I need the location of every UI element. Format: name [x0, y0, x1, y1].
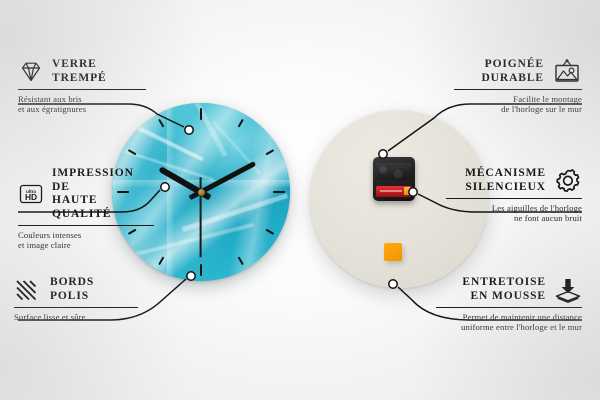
- feature-title: POIGNÉE DURABLE: [481, 58, 544, 85]
- hour-marker: [201, 191, 285, 193]
- feature-title: ENTRETOISE EN MOUSSE: [462, 276, 546, 303]
- feature-divider: [14, 307, 138, 308]
- feature-title-line2: EN MOUSSE: [462, 290, 546, 304]
- feature-title-line2: SILENCIEUX: [465, 181, 546, 195]
- feature-mecanisme-silencieux: MÉCANISME SILENCIEUX Les aiguilles de l'…: [446, 167, 582, 224]
- clock-mechanism: [373, 157, 415, 201]
- feature-divider: [18, 89, 146, 90]
- feature-divider: [18, 225, 154, 226]
- feature-impression-haute-qualite: ultra HD IMPRESSION DE HAUTE QUALITÉ Cou…: [18, 167, 154, 251]
- feature-header: BORDS POLIS: [14, 276, 138, 303]
- feature-description: Couleurs intenses et image claire: [18, 230, 154, 251]
- feature-title-line1: POIGNÉE: [481, 58, 544, 72]
- feature-title-line2: POLIS: [50, 290, 94, 304]
- hand-center-cap: [198, 189, 205, 196]
- feature-title-line1: ENTRETOISE: [462, 276, 546, 290]
- feature-desc-line1: Couleurs intenses: [18, 230, 154, 240]
- feature-header: POIGNÉE DURABLE: [454, 58, 582, 85]
- feature-desc-line1: Facilite le montage: [454, 94, 582, 104]
- feature-title: BORDS POLIS: [50, 276, 94, 303]
- feature-description: Facilite le montage de l'horloge sur le …: [454, 94, 582, 115]
- feature-verre-trempe: VERRE TREMPÉ Résistant aux bris et aux é…: [18, 58, 146, 115]
- feature-description: Résistant aux bris et aux égratignures: [18, 94, 146, 115]
- feature-title: IMPRESSION DE HAUTE QUALITÉ: [52, 167, 154, 221]
- feature-title-line2: DURABLE: [481, 72, 544, 86]
- feature-poignee-durable: POIGNÉE DURABLE Facilite le montage de l…: [454, 58, 582, 115]
- feature-header: VERRE TREMPÉ: [18, 58, 146, 85]
- foam-spacer-icon: [554, 277, 582, 303]
- feature-title-line2: TREMPÉ: [52, 72, 107, 86]
- feature-description: Surface lisse et sûre: [14, 312, 138, 322]
- feature-entretoise-en-mousse: ENTRETOISE EN MOUSSE Permet de maintenir…: [436, 276, 582, 333]
- feature-description: Permet de maintenir une distance uniform…: [436, 312, 582, 333]
- diagonal-lines-icon: [14, 278, 42, 302]
- feature-desc-line1: Surface lisse et sûre: [14, 312, 138, 322]
- gear-icon: [554, 168, 582, 194]
- picture-hanger-icon: [552, 59, 582, 85]
- feature-desc-line2: uniforme entre l'horloge et le mur: [436, 322, 582, 332]
- feature-divider: [446, 198, 582, 199]
- diamond-icon: [18, 60, 44, 84]
- feature-header: ultra HD IMPRESSION DE HAUTE QUALITÉ: [18, 167, 154, 221]
- svg-text:HD: HD: [25, 192, 37, 202]
- feature-header: ENTRETOISE EN MOUSSE: [436, 276, 582, 303]
- feature-title-line2: HAUTE QUALITÉ: [52, 194, 154, 221]
- ultra-hd-icon: ultra HD: [18, 182, 44, 206]
- mechanism-housing-detail: [377, 163, 411, 180]
- feature-desc-line1: Permet de maintenir une distance: [436, 312, 582, 322]
- feature-title-line1: MÉCANISME: [465, 167, 546, 181]
- infographic-canvas: VERRE TREMPÉ Résistant aux bris et aux é…: [0, 0, 600, 400]
- feature-header: MÉCANISME SILENCIEUX: [446, 167, 582, 194]
- feature-divider: [436, 307, 582, 308]
- feature-title: MÉCANISME SILENCIEUX: [465, 167, 546, 194]
- feature-title-line1: BORDS: [50, 276, 94, 290]
- feature-title: VERRE TREMPÉ: [52, 58, 107, 85]
- feature-title-line1: IMPRESSION DE: [52, 167, 154, 194]
- feature-description: Les aiguilles de l'horloge ne font aucun…: [446, 203, 582, 224]
- foam-spacer: [384, 243, 402, 261]
- battery: [376, 186, 412, 197]
- feature-divider: [454, 89, 582, 90]
- feature-desc-line2: et image claire: [18, 240, 154, 250]
- feature-desc-line1: Les aiguilles de l'horloge: [446, 203, 582, 213]
- feature-desc-line1: Résistant aux bris: [18, 94, 146, 104]
- feature-desc-line2: ne font aucun bruit: [446, 213, 582, 223]
- feature-desc-line2: et aux égratignures: [18, 104, 146, 114]
- feature-bords-polis: BORDS POLIS Surface lisse et sûre: [14, 276, 138, 322]
- feature-desc-line2: de l'horloge sur le mur: [454, 104, 582, 114]
- feature-title-line1: VERRE: [52, 58, 107, 72]
